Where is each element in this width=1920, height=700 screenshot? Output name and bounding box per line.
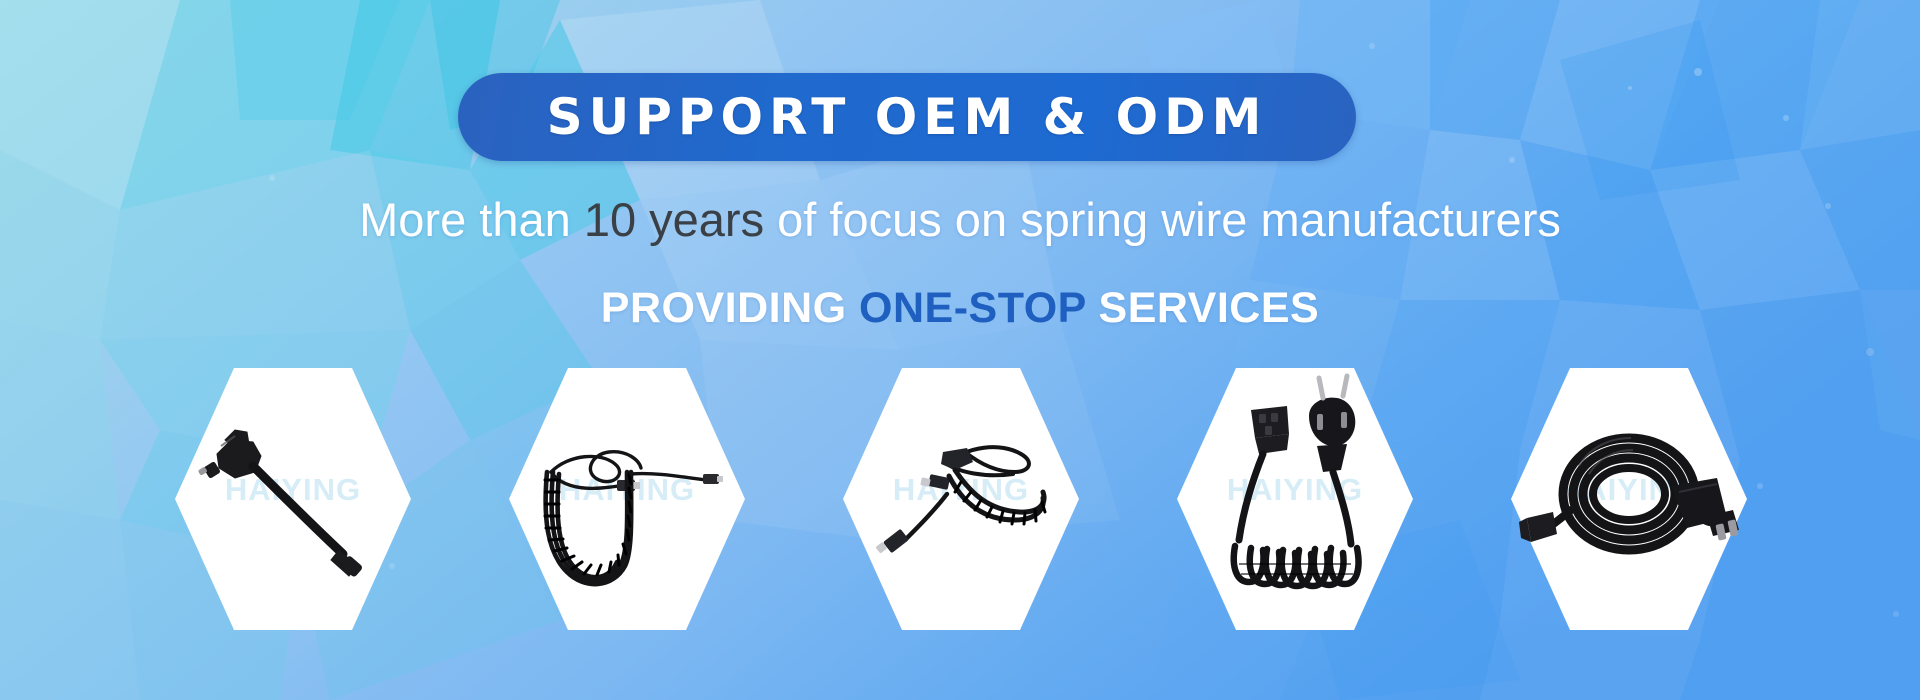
subtitle-part2: of focus on spring wire manufacturers (764, 193, 1561, 246)
tagline-part1: PROVIDING (601, 284, 859, 332)
product-image-5 (1511, 368, 1747, 630)
product-image-4 (1177, 368, 1413, 630)
headline-pill-label: SUPPORT OEM & ODM (547, 88, 1268, 146)
headline-pill: SUPPORT OEM & ODM (458, 73, 1356, 161)
subtitle-line: More than 10 years of focus on spring wi… (0, 190, 1920, 250)
subtitle-highlight: 10 years (584, 193, 764, 246)
promo-banner: SUPPORT OEM & ODM More than 10 years of … (0, 0, 1920, 700)
tagline-line: PROVIDING ONE-STOP SERVICES (0, 280, 1920, 336)
product-image-2 (509, 368, 745, 630)
product-tile-3[interactable]: HAIYING (843, 368, 1079, 630)
subtitle-part1: More than (359, 193, 584, 246)
tagline-accent: ONE-STOP (859, 284, 1086, 332)
product-tile-1[interactable]: HAIYING (175, 368, 411, 630)
product-tile-4[interactable]: HAIYING (1177, 368, 1413, 630)
product-hexagon-row: HAIYING HAIYING (175, 368, 1747, 630)
tagline-part2: SERVICES (1086, 284, 1319, 332)
product-tile-5[interactable]: HAIYING (1511, 368, 1747, 630)
product-image-1 (175, 368, 411, 630)
product-image-3 (843, 368, 1079, 630)
product-tile-2[interactable]: HAIYING (509, 368, 745, 630)
